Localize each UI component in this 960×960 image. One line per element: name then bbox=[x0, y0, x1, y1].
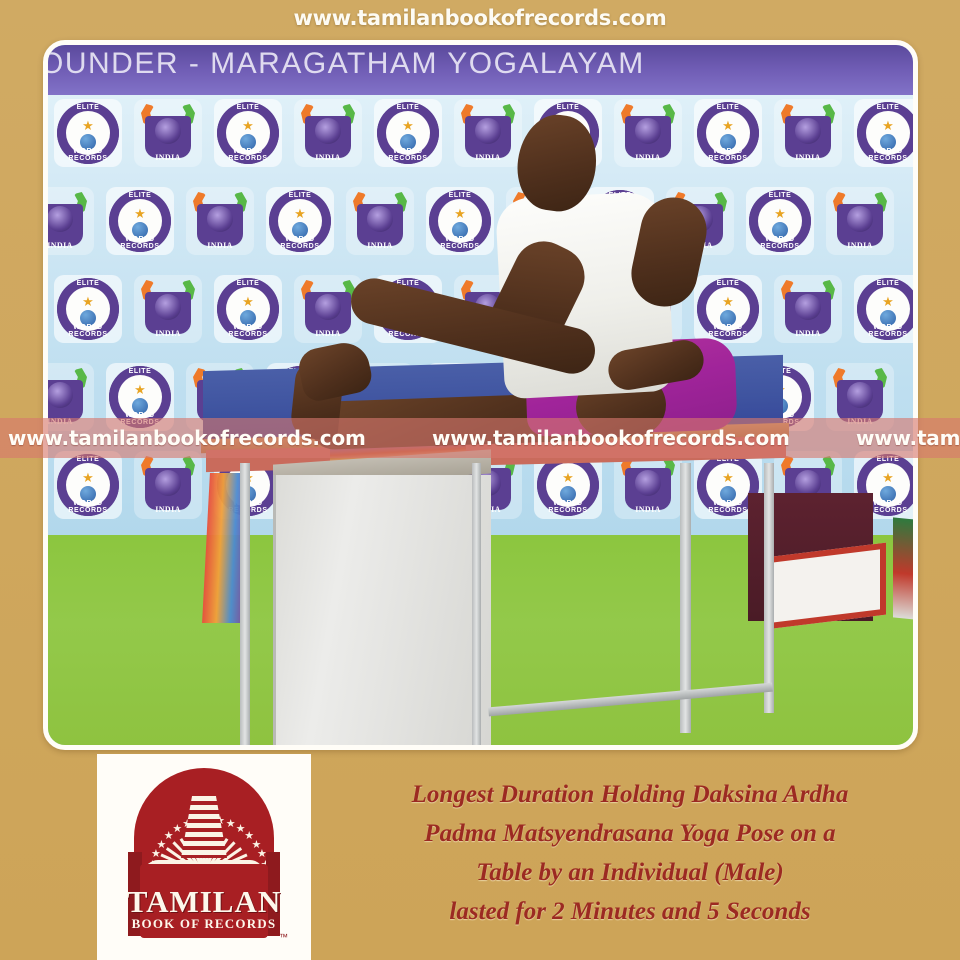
poster-root: www.tamilanbookofrecords.com OUNDER - MA… bbox=[0, 0, 960, 960]
logo-title: TAMILAN bbox=[124, 884, 284, 920]
caption-line-1: Longest Duration Holding Daksina Ardha bbox=[330, 778, 930, 811]
caption-line-2: Padma Matsyendrasana Yoga Pose on a bbox=[330, 817, 930, 850]
yoga-performer bbox=[48, 45, 913, 745]
watermark-band-url-1: www.tamilanbookofrecords.com bbox=[8, 426, 366, 450]
top-watermark-url: www.tamilanbookofrecords.com bbox=[0, 2, 960, 34]
tamilan-book-of-records-logo: ★★★★★★★★★★★★★★★ TAMILAN BOOK OF RECORDS … bbox=[124, 768, 284, 944]
caption-line-4: lasted for 2 Minutes and 5 Seconds bbox=[330, 895, 930, 928]
hand-grasping-foot bbox=[295, 338, 374, 403]
photo-inner: OUNDER - MARAGATHAM YOGALAYAM ★ELITEWORL… bbox=[48, 45, 913, 745]
watermark-band: www.tamilanbookofrecords.com www.tamilan… bbox=[0, 418, 960, 458]
caption-line-3: Table by an Individual (Male) bbox=[330, 856, 930, 889]
record-caption: Longest Duration Holding Daksina Ardha P… bbox=[330, 778, 930, 934]
logo-panel: ★★★★★★★★★★★★★★★ TAMILAN BOOK OF RECORDS … bbox=[97, 754, 311, 960]
logo-subtitle: BOOK OF RECORDS bbox=[124, 916, 284, 932]
trademark-mark: ™ bbox=[279, 932, 288, 942]
watermark-band-url-3: www.tam bbox=[856, 426, 960, 450]
record-photo: OUNDER - MARAGATHAM YOGALAYAM ★ELITEWORL… bbox=[43, 40, 918, 750]
watermark-band-url-2: www.tamilanbookofrecords.com bbox=[432, 426, 790, 450]
